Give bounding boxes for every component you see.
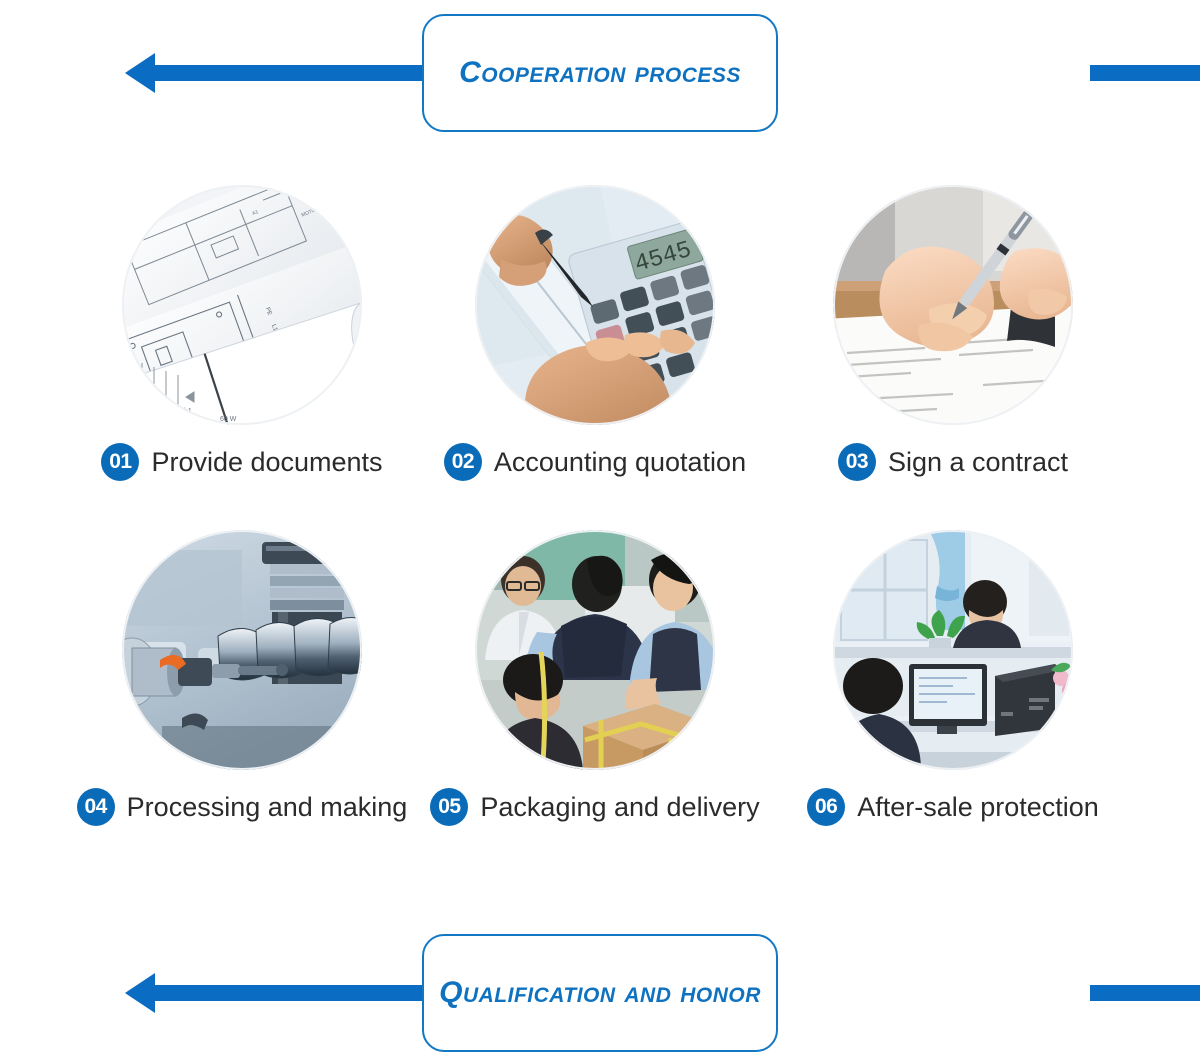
step-label: After-sale protection	[857, 792, 1099, 823]
process-step-03[interactable]: 03 Sign a contract	[753, 185, 1153, 481]
page-title: Cooperation process	[459, 56, 741, 90]
step-caption: 05 Packaging and delivery	[430, 788, 759, 826]
qualification-and-honor-banner: Qualification and honor	[0, 928, 1200, 1058]
step-number-badge: 06	[807, 788, 845, 826]
process-step-05[interactable]: 05 Packaging and delivery	[395, 530, 795, 826]
section-title: Qualification and honor	[439, 976, 761, 1010]
banner-title-box: Cooperation process	[422, 14, 778, 132]
calculator-hands-photo: 4545	[475, 185, 715, 425]
step-caption: 03 Sign a contract	[838, 443, 1068, 481]
process-step-02[interactable]: 4545	[395, 185, 795, 481]
step-caption: 04 Processing and making	[77, 788, 408, 826]
step-label: Provide documents	[151, 447, 382, 478]
process-step-01[interactable]: A1MOTOR	[42, 185, 442, 481]
office-support-photo	[833, 530, 1073, 770]
step-label: Sign a contract	[888, 447, 1068, 478]
cnc-machining-photo	[122, 530, 362, 770]
step-caption: 06 After-sale protection	[807, 788, 1099, 826]
process-step-04[interactable]: 04 Processing and making	[42, 530, 442, 826]
step-number-badge: 05	[430, 788, 468, 826]
packaging-workers-photo	[475, 530, 715, 770]
step-label: Accounting quotation	[494, 447, 746, 478]
cooperation-process-banner: Cooperation process	[0, 8, 1200, 138]
banner-title-box: Qualification and honor	[422, 934, 778, 1052]
process-step-06[interactable]: 06 After-sale protection	[753, 530, 1153, 826]
step-caption: 01 Provide documents	[101, 443, 382, 481]
step-number-badge: 02	[444, 443, 482, 481]
rolled-blueprints-photo: A1MOTOR	[122, 185, 362, 425]
step-caption: 02 Accounting quotation	[444, 443, 746, 481]
step-label: Processing and making	[127, 792, 408, 823]
step-number-badge: 01	[101, 443, 139, 481]
signing-contract-photo	[833, 185, 1073, 425]
process-steps-grid: A1MOTOR	[0, 185, 1200, 885]
step-number-badge: 03	[838, 443, 876, 481]
step-label: Packaging and delivery	[480, 792, 759, 823]
step-number-badge: 04	[77, 788, 115, 826]
